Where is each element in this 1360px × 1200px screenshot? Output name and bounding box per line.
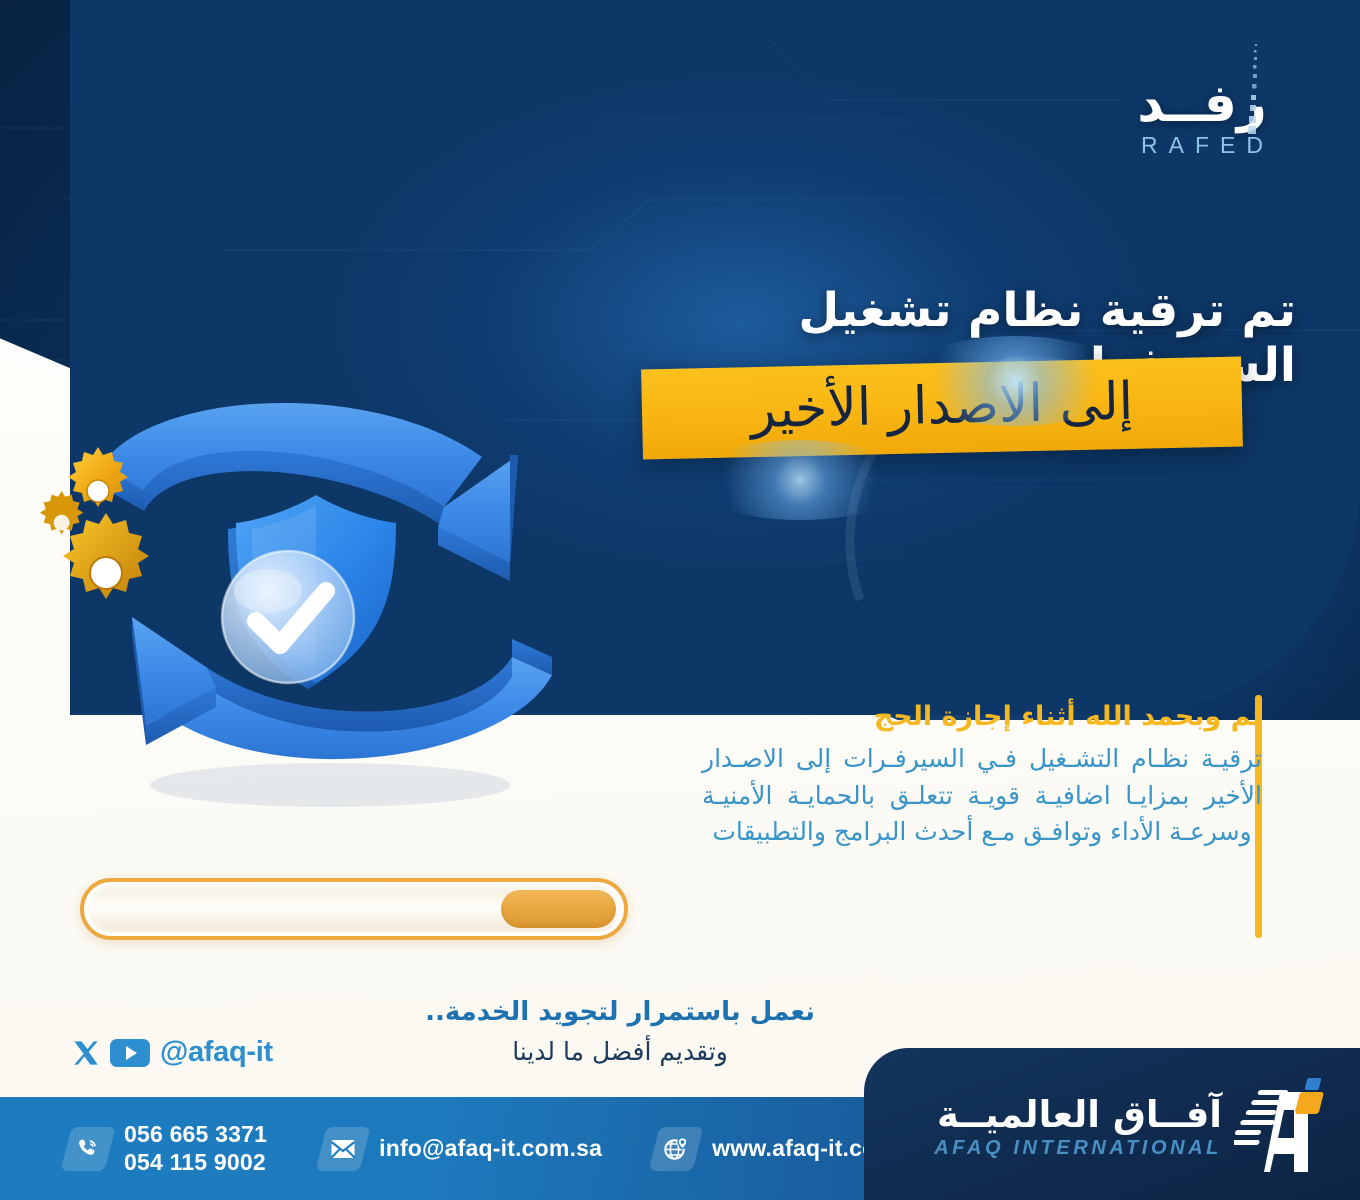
footer-email-text: info@afaq-it.com.sa [379, 1135, 602, 1163]
body-paragraph: ترقيـة نظـام التشـغيل فـي السيرفـرات إلى… [702, 741, 1262, 851]
afaq-logo-latin: AFAQ INTERNATIONAL [934, 1137, 1222, 1160]
upgrade-illustration [40, 395, 600, 815]
progress-bar [80, 878, 628, 940]
rafed-logo-dots [1248, 42, 1264, 134]
rafed-logo-latin: RAFED [1130, 132, 1274, 159]
progress-bar-fill [501, 890, 616, 928]
youtube-icon[interactable] [110, 1039, 150, 1067]
footer-phone-line-1: 056 665 3371 [124, 1121, 267, 1147]
footer-email-item[interactable]: info@afaq-it.com.sa [321, 1127, 602, 1171]
afaq-logo-words: آفــاق العالميــة AFAQ INTERNATIONAL [934, 1096, 1222, 1160]
envelope-icon [316, 1127, 371, 1171]
x-twitter-icon[interactable] [72, 1039, 100, 1067]
social-row: @afaq-it [72, 1036, 273, 1069]
social-handle[interactable]: @afaq-it [160, 1036, 273, 1069]
footer-phone-item[interactable]: 056 665 3371 054 115 9002 [66, 1121, 267, 1176]
footer-contact-row: 056 665 3371 054 115 9002 info@afaq-it.c… [0, 1097, 960, 1200]
poster-canvas: رفــد RAFED تم ترقية نظام تشغيل السيرفرا… [0, 0, 1360, 1200]
headline-banner-box: إلى الاصدار الأخير [641, 356, 1243, 459]
body-lead-text: تم وبحمد الله أثناء إجازة الحج [702, 700, 1262, 734]
slogan-line-1: نعمل باستمرار لتجويد الخدمة.. [0, 996, 1240, 1030]
check-badge [222, 551, 354, 683]
globe-pin-icon [649, 1127, 704, 1171]
rafed-logo: رفــد RAFED [1130, 78, 1274, 159]
afaq-logo-inner: آفــاق العالميــة AFAQ INTERNATIONAL [896, 1070, 1346, 1186]
headline-banner: إلى الاصدار الأخير [641, 356, 1243, 459]
afaq-logo-mark [1234, 1076, 1346, 1180]
headline-banner-text: إلى الاصدار الأخير [671, 371, 1212, 441]
afaq-logo-arabic: آفــاق العالميــة [934, 1096, 1222, 1135]
progress-bar-track [92, 890, 616, 928]
afaq-logo-panel: آفــاق العالميــة AFAQ INTERNATIONAL [864, 1048, 1360, 1200]
body-text-block: تم وبحمد الله أثناء إجازة الحج ترقيـة نظ… [702, 700, 1262, 851]
footer-phone-text: 056 665 3371 054 115 9002 [124, 1121, 267, 1176]
phone-icon [61, 1127, 116, 1171]
footer-phone-line-2: 054 115 9002 [124, 1149, 267, 1177]
